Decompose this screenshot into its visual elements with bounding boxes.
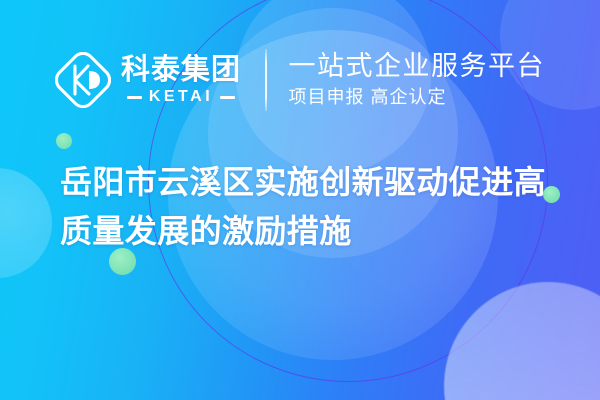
bottom-right-blob-decoration <box>444 282 600 400</box>
promo-banner: 科泰集团 KETAI 一站式企业服务平台 项目申报 高企认定 岳阳市云溪区实施创… <box>0 0 600 400</box>
header-divider <box>265 49 267 111</box>
brand-name-cn: 科泰集团 <box>121 55 241 86</box>
dash-right-icon <box>220 96 235 99</box>
slogan-block: 一站式企业服务平台 项目申报 高企认定 <box>289 51 546 109</box>
brand-name-en-row: KETAI <box>127 89 235 105</box>
slogan-main-text: 一站式企业服务平台 <box>289 51 546 81</box>
page-title: 岳阳市云溪区实施创新驱动促进高质量发展的激励措施 <box>60 158 550 255</box>
brand-logo: 科泰集团 KETAI <box>55 52 241 108</box>
banner-header: 科泰集团 KETAI 一站式企业服务平台 项目申报 高企认定 <box>0 40 600 120</box>
green-accent-dot-left <box>56 133 72 149</box>
brand-name-en: KETAI <box>149 89 213 105</box>
dash-left-icon <box>127 96 142 99</box>
left-blob-decoration <box>0 168 52 278</box>
slogan-sub-text: 项目申报 高企认定 <box>289 87 546 109</box>
brand-wordmark: 科泰集团 KETAI <box>121 55 241 105</box>
ketai-diamond-logo-icon <box>55 52 111 108</box>
